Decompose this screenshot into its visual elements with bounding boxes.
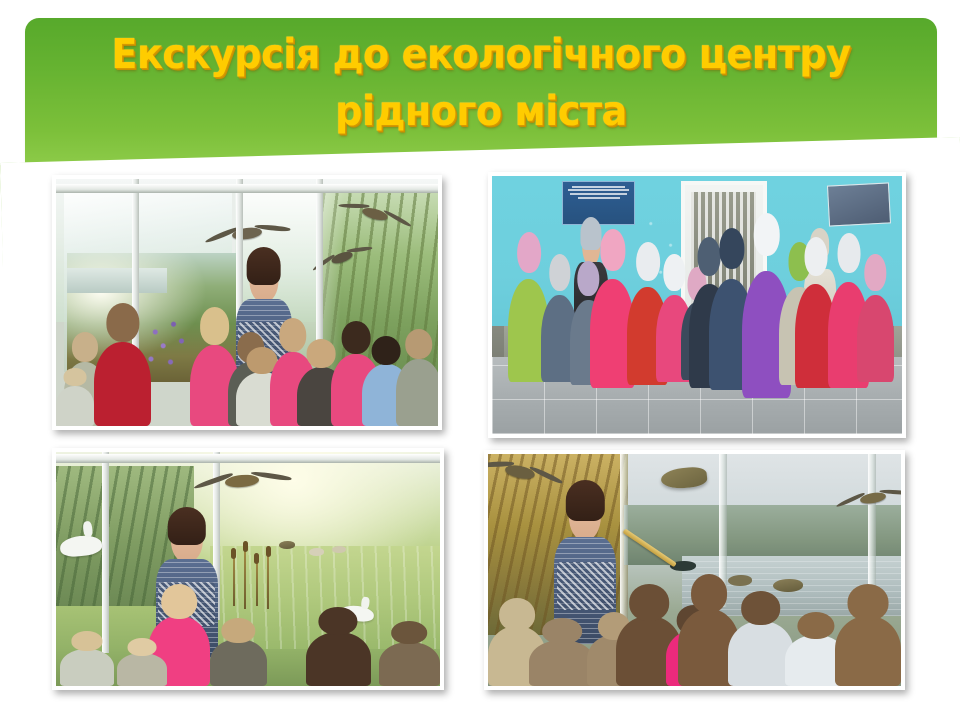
child-head: [341, 321, 370, 354]
child-hat: [549, 254, 570, 291]
glass-mullion-3: [868, 454, 876, 589]
page-title-line2: рідного міста: [57, 83, 905, 140]
child-figure: [56, 386, 94, 426]
glass-header-rail: [56, 454, 440, 463]
mounted-duck: [773, 579, 803, 592]
sign-text-line: [572, 186, 625, 188]
glass-header-rail: [56, 184, 438, 193]
mounted-duck: [332, 546, 346, 553]
child-figure: [94, 342, 151, 426]
child-head: [71, 631, 102, 650]
child-hat: [600, 229, 625, 270]
slide-canvas: Екскурсія до екологічного центру рідного…: [0, 0, 960, 720]
child-hat: [636, 242, 660, 281]
child-head: [72, 332, 98, 362]
photo-top-left-image: [56, 179, 438, 426]
sign-text-line: [578, 197, 620, 199]
marsh-reed: [267, 553, 269, 609]
child-head: [64, 368, 87, 385]
page-title: Екскурсія до екологічного центру рідного…: [57, 26, 905, 140]
child-head: [128, 638, 157, 656]
child-hat: [719, 228, 744, 269]
child-hat: [865, 254, 886, 291]
child-head: [279, 318, 306, 352]
child-figure: [117, 653, 167, 686]
child-head: [499, 598, 535, 631]
child-head: [629, 584, 669, 620]
child-head: [741, 591, 781, 625]
child-figure: [857, 295, 894, 383]
guide-hair: [566, 480, 604, 521]
child-head: [200, 307, 230, 344]
child-figure: [529, 640, 595, 686]
photo-bottom-left[interactable]: [52, 448, 444, 690]
child-figure: [379, 642, 440, 686]
child-head: [372, 336, 401, 366]
photo-top-left[interactable]: [52, 175, 442, 430]
child-figure: [210, 639, 268, 686]
child-head: [106, 303, 139, 342]
child-head: [222, 618, 255, 643]
child-head: [391, 621, 427, 644]
marsh-reed: [244, 548, 246, 609]
child-hat: [664, 254, 685, 291]
marsh-reed: [233, 555, 235, 606]
marsh-reed: [256, 560, 258, 607]
mounted-duck: [728, 575, 752, 586]
diorama-water: [67, 268, 166, 293]
photo-bottom-right-image: [488, 454, 901, 686]
child-hat: [578, 261, 599, 297]
guide-sweater-pattern: [557, 562, 614, 609]
child-head: [307, 339, 336, 367]
child-hat: [517, 232, 541, 273]
child-figure: [728, 621, 794, 686]
photo-bottom-right[interactable]: [484, 450, 905, 690]
glass-mullion-1: [102, 452, 109, 653]
child-figure: [396, 359, 438, 426]
glass-mullion-1: [620, 454, 628, 640]
sign-text-line: [568, 189, 629, 191]
child-head: [847, 584, 888, 620]
child-head: [691, 574, 727, 612]
mounted-duck: [279, 541, 295, 549]
sign-text-line: [570, 193, 627, 195]
photo-top-right[interactable]: [488, 172, 906, 438]
child-hat: [753, 213, 780, 256]
child-figure: [60, 649, 114, 686]
teacher-hair: [168, 507, 206, 545]
child-head: [543, 618, 583, 644]
wall-mounted-panel: [827, 182, 891, 226]
staff-hat: [580, 217, 601, 249]
child-hat: [837, 233, 860, 273]
photo-bottom-left-image: [56, 452, 440, 686]
building-name-sign: [562, 181, 636, 225]
child-hat: [804, 237, 827, 276]
photo-top-right-image: [492, 176, 902, 434]
child-figure: [835, 616, 901, 686]
child-figure: [306, 632, 371, 686]
child-head: [319, 607, 358, 635]
child-head: [405, 329, 432, 360]
page-title-line1: Екскурсія до екологічного центру: [111, 30, 850, 78]
child-hat: [698, 237, 721, 276]
child-head: [798, 612, 835, 640]
child-head: [161, 584, 197, 619]
teacher-hair: [246, 247, 281, 284]
